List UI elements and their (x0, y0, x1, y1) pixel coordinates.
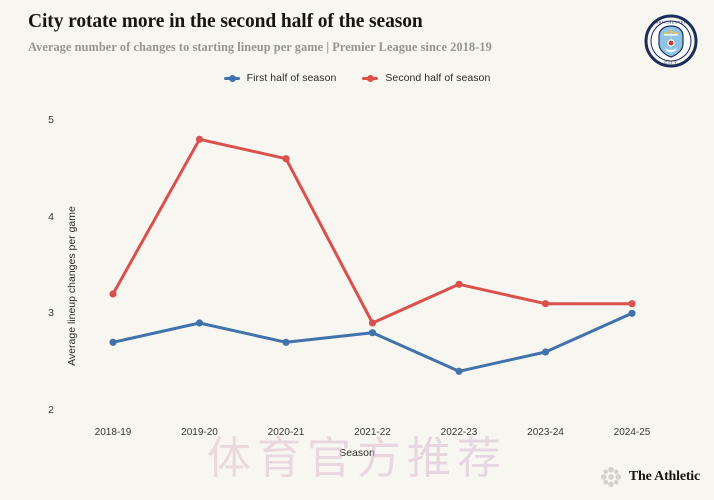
x-axis-tick-2021-22: 2021-22 (328, 427, 418, 438)
data-point[interactable] (282, 155, 289, 162)
data-point[interactable] (196, 319, 203, 326)
data-point[interactable] (369, 319, 376, 326)
data-point[interactable] (196, 136, 203, 143)
data-point[interactable] (282, 339, 289, 346)
x-axis-tick-2018-19: 2018-19 (68, 427, 158, 438)
x-axis-tick-2022-23: 2022-23 (414, 427, 504, 438)
y-axis-tick-4: 4 (28, 211, 54, 223)
x-axis-tick-2023-24: 2023-24 (501, 427, 591, 438)
plot-area: 2345 2018-192019-202020-212021-222022-23… (0, 0, 714, 500)
y-axis-tick-5: 5 (28, 114, 54, 126)
data-point[interactable] (455, 368, 462, 375)
data-point[interactable] (542, 348, 549, 355)
x-axis-tick-2020-21: 2020-21 (241, 427, 331, 438)
data-point[interactable] (109, 290, 116, 297)
chart-figure: City rotate more in the second half of t… (0, 0, 714, 500)
series-line-second-half (113, 139, 632, 323)
athletic-wordmark: The Athletic (629, 469, 700, 485)
x-axis-tick-2019-20: 2019-20 (155, 427, 245, 438)
series-lines (0, 0, 714, 500)
data-point[interactable] (455, 281, 462, 288)
data-point[interactable] (628, 300, 635, 307)
y-axis-title: Average lineup changes per game (66, 186, 78, 386)
data-point[interactable] (109, 339, 116, 346)
athletic-logo: The Athletic (600, 466, 700, 488)
data-point[interactable] (369, 329, 376, 336)
data-point[interactable] (542, 300, 549, 307)
x-axis-tick-2024-25: 2024-25 (587, 427, 677, 438)
x-axis-title: Season (0, 447, 714, 459)
athletic-flower-icon (600, 466, 622, 488)
y-axis-tick-3: 3 (28, 307, 54, 319)
y-axis-tick-2: 2 (28, 404, 54, 416)
data-point[interactable] (628, 310, 635, 317)
